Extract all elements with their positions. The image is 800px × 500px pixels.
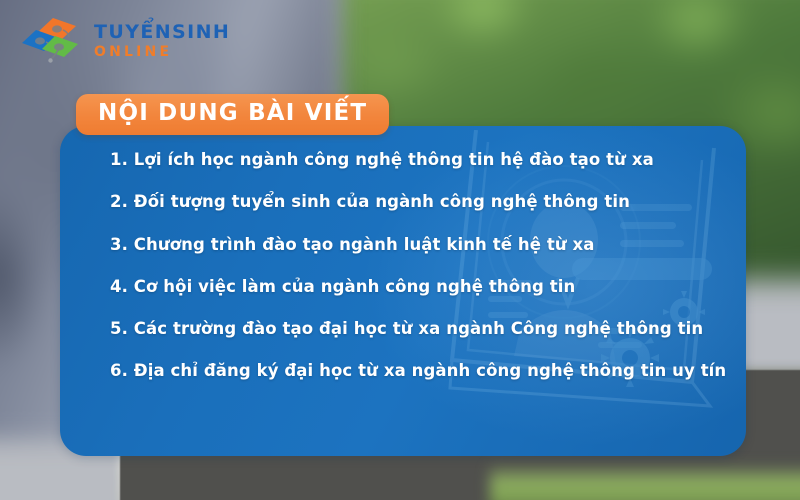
list-item[interactable]: 3. Chương trình đào tạo ngành luật kinh …	[110, 235, 712, 255]
screenshot-root: TUYỂNSINH ONLINE	[0, 0, 800, 500]
table-of-contents-panel: 1. Lợi ích học ngành công nghệ thông tin…	[60, 126, 746, 456]
table-of-contents-list: 1. Lợi ích học ngành công nghệ thông tin…	[60, 126, 746, 381]
list-item[interactable]: 2. Đối tượng tuyển sinh của ngành công n…	[110, 192, 712, 212]
background-grass	[490, 464, 800, 500]
brand-wordmark: TUYỂNSINH ONLINE	[94, 21, 230, 59]
brand-name-line2: ONLINE	[94, 45, 230, 59]
graduation-cap-trio-logo-icon	[22, 14, 84, 66]
brand-name-line1: TUYỂNSINH	[94, 23, 230, 42]
page-title: NỘI DUNG BÀI VIẾT	[76, 94, 389, 135]
list-item[interactable]: 1. Lợi ích học ngành công nghệ thông tin…	[110, 150, 712, 170]
list-item[interactable]: 4. Cơ hội việc làm của ngành công nghệ t…	[110, 277, 712, 297]
brand-logo[interactable]: TUYỂNSINH ONLINE	[22, 14, 230, 66]
list-item[interactable]: 5. Các trường đào tạo đại học từ xa ngàn…	[110, 319, 712, 339]
list-item[interactable]: 6. Địa chỉ đăng ký đại học từ xa ngành c…	[110, 361, 712, 381]
